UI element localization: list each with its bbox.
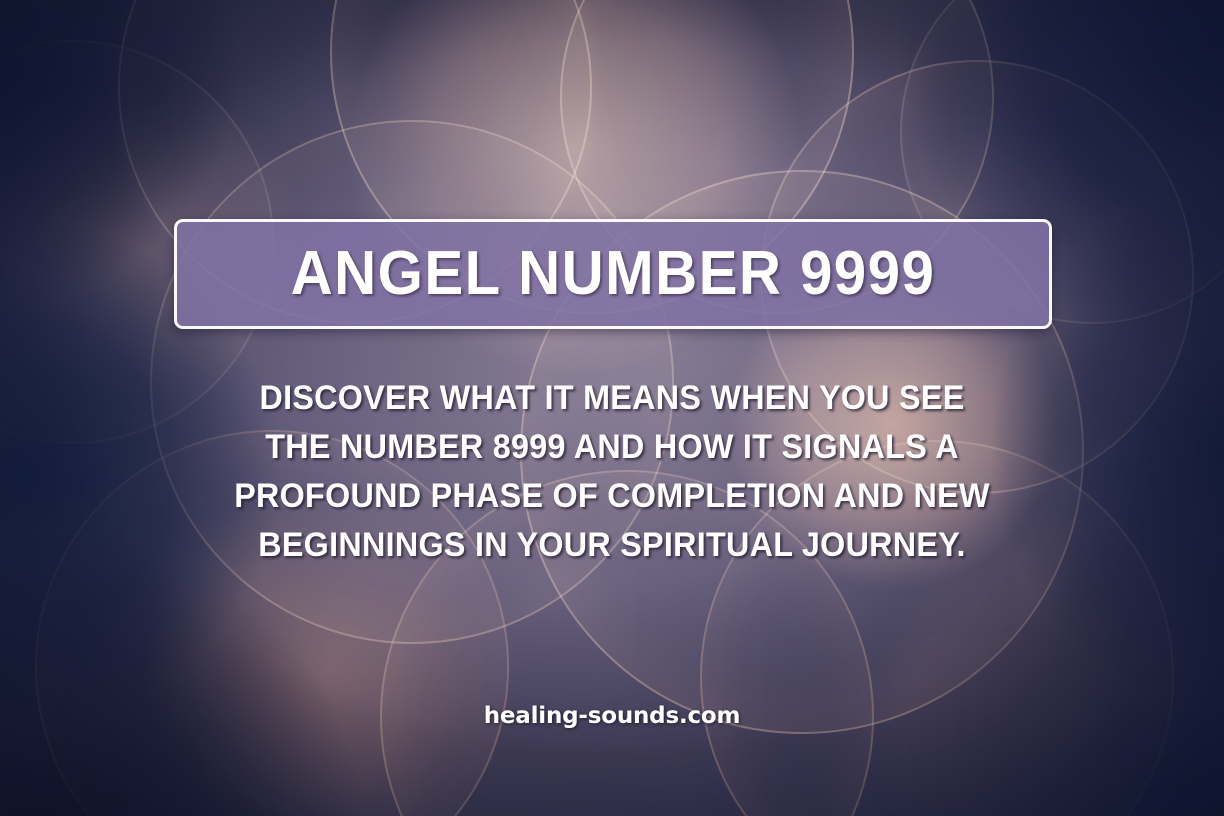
footer: healing-sounds.com <box>0 703 1224 729</box>
subtitle-line-2: THE NUMBER 8999 AND HOW IT SIGNALS A <box>31 423 1194 472</box>
subtitle-block: DISCOVER WHAT IT MEANS WHEN YOU SEE THE … <box>0 374 1224 570</box>
site-url-label: healing-sounds.com <box>484 703 741 729</box>
title-banner: ANGEL NUMBER 9999 <box>174 219 1052 329</box>
poster-canvas: ANGEL NUMBER 9999 DISCOVER WHAT IT MEANS… <box>0 0 1224 816</box>
subtitle-line-3: PROFOUND PHASE OF COMPLETION AND NEW <box>31 472 1194 521</box>
subtitle-line-1: DISCOVER WHAT IT MEANS WHEN YOU SEE <box>31 374 1194 423</box>
subtitle-line-4: BEGINNINGS IN YOUR SPIRITUAL JOURNEY. <box>31 521 1194 570</box>
page-title: ANGEL NUMBER 9999 <box>291 243 936 305</box>
poster-content: ANGEL NUMBER 9999 DISCOVER WHAT IT MEANS… <box>0 0 1224 816</box>
